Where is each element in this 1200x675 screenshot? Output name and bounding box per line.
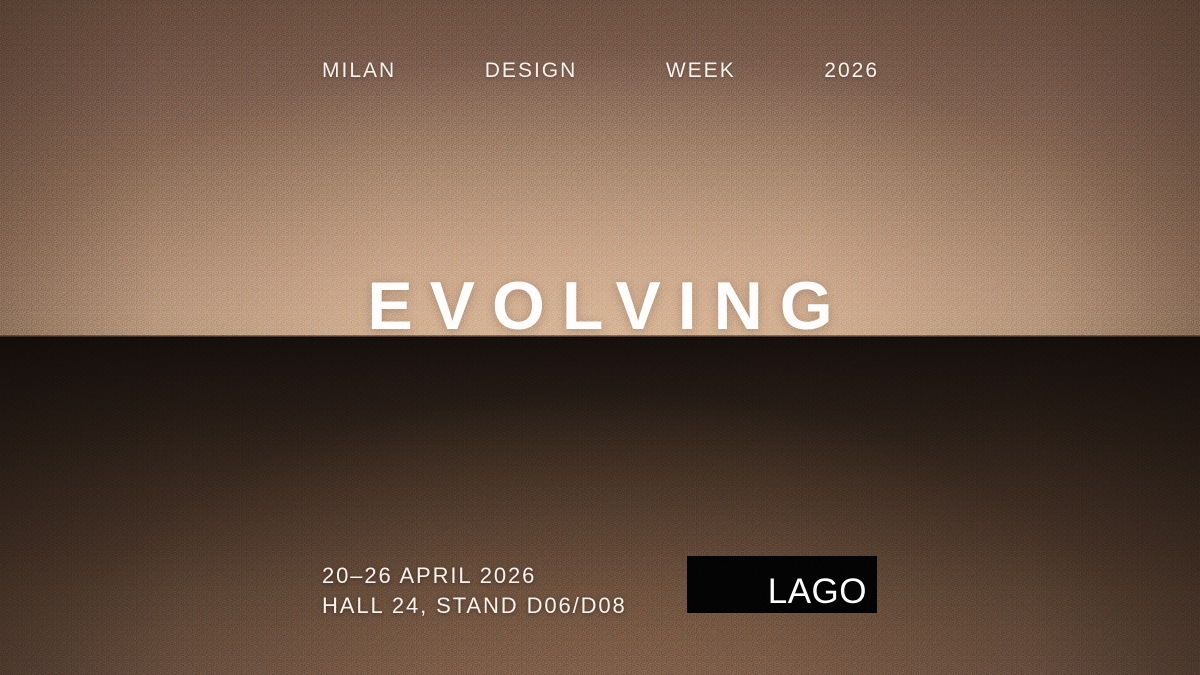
headline-evolving: EVOLVING bbox=[0, 272, 1200, 340]
eyebrow-row: MILAN DESIGN WEEK 2026 bbox=[322, 60, 879, 81]
poster-canvas: MILAN DESIGN WEEK 2026 EVOLVING 20–26 AP… bbox=[0, 0, 1200, 675]
eyebrow-item-milan: MILAN bbox=[322, 60, 396, 81]
lago-logo-plate: LAGO bbox=[687, 556, 877, 613]
eyebrow-item-year: 2026 bbox=[824, 60, 879, 81]
lago-wordmark: LAGO bbox=[768, 574, 867, 609]
event-dates-line: 20–26 APRIL 2026 bbox=[322, 561, 627, 591]
event-details-block: 20–26 APRIL 2026 HALL 24, STAND D06/D08 bbox=[322, 561, 627, 621]
event-location-line: HALL 24, STAND D06/D08 bbox=[322, 591, 627, 621]
eyebrow-item-week: WEEK bbox=[666, 60, 736, 81]
eyebrow-item-design: DESIGN bbox=[485, 60, 578, 81]
poster-content: MILAN DESIGN WEEK 2026 EVOLVING 20–26 AP… bbox=[0, 0, 1200, 675]
